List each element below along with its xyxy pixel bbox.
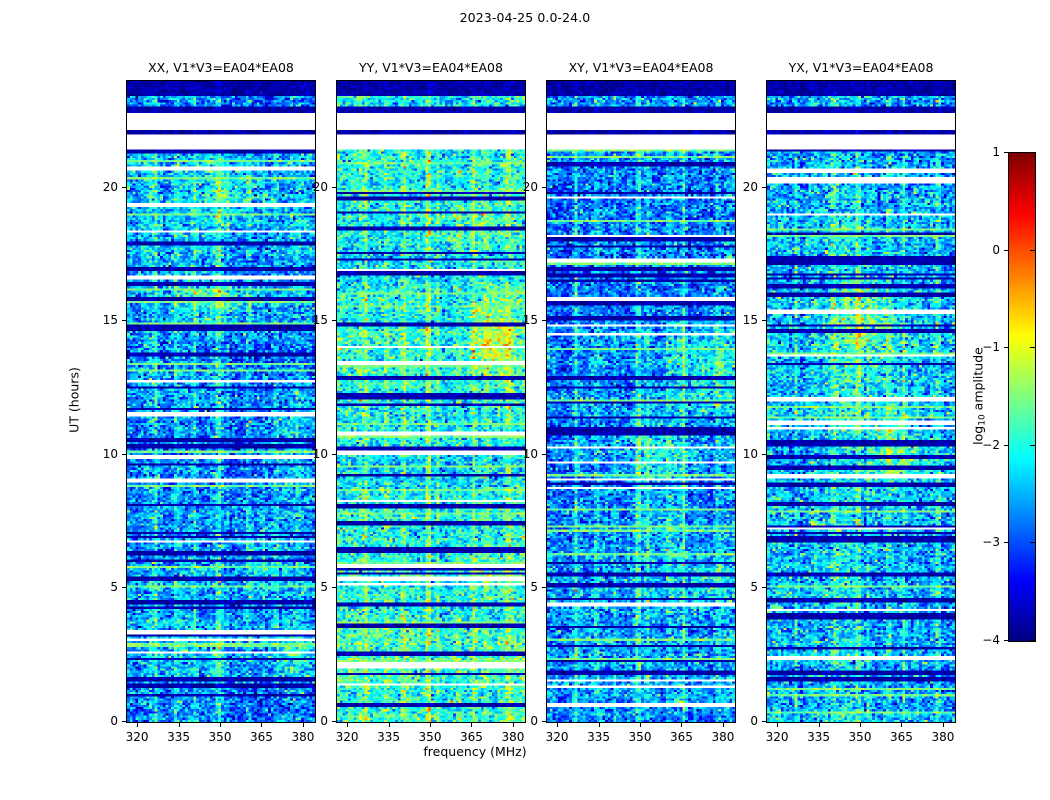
y-tick-label: 0 bbox=[506, 714, 538, 728]
x-tick-label: 320 bbox=[126, 730, 149, 744]
y-tick-label: 10 bbox=[86, 447, 118, 461]
y-tick-label: 15 bbox=[726, 313, 758, 327]
x-tick-label: 365 bbox=[890, 730, 913, 744]
x-tick-label: 380 bbox=[291, 730, 314, 744]
y-axis-label: UT (hours) bbox=[67, 367, 82, 433]
y-tick-label: 10 bbox=[726, 447, 758, 461]
y-tick-label: 10 bbox=[296, 447, 328, 461]
panel-title-yx: YX, V1*V3=EA04*EA08 bbox=[789, 60, 934, 75]
x-tick-label: 380 bbox=[501, 730, 524, 744]
y-tick-mark bbox=[332, 587, 336, 588]
y-tick-label: 20 bbox=[296, 180, 328, 194]
waterfall-image-xx bbox=[127, 81, 315, 722]
x-tick-label: 335 bbox=[587, 730, 610, 744]
colorbar-tick-mark-inner bbox=[1030, 542, 1035, 543]
panel-title-yy: YY, V1*V3=EA04*EA08 bbox=[359, 60, 503, 75]
x-tick-label: 335 bbox=[167, 730, 190, 744]
x-tick-mark bbox=[777, 723, 778, 727]
y-tick-mark bbox=[122, 187, 126, 188]
y-tick-mark bbox=[762, 721, 766, 722]
y-tick-label: 20 bbox=[726, 180, 758, 194]
waterfall-image-yy bbox=[337, 81, 525, 722]
y-tick-label: 20 bbox=[506, 180, 538, 194]
panel-title-xx: XX, V1*V3=EA04*EA08 bbox=[148, 60, 294, 75]
colorbar-gradient bbox=[1009, 153, 1035, 641]
y-tick-label: 5 bbox=[506, 580, 538, 594]
x-tick-mark bbox=[179, 723, 180, 727]
waterfall-panel-yy[interactable]: YY, V1*V3=EA04*EA08 bbox=[336, 80, 526, 723]
x-tick-label: 350 bbox=[419, 730, 442, 744]
x-tick-mark bbox=[557, 723, 558, 727]
x-tick-label: 335 bbox=[807, 730, 830, 744]
x-tick-mark bbox=[471, 723, 472, 727]
y-tick-mark bbox=[122, 721, 126, 722]
colorbar-tick-mark-inner bbox=[1030, 152, 1035, 153]
x-tick-mark bbox=[860, 723, 861, 727]
colorbar-tick-label: 0 bbox=[964, 243, 1000, 257]
colorbar-tick-mark bbox=[1004, 640, 1009, 641]
y-tick-mark bbox=[762, 454, 766, 455]
x-tick-mark bbox=[723, 723, 724, 727]
y-tick-label: 15 bbox=[296, 313, 328, 327]
y-tick-mark bbox=[122, 454, 126, 455]
y-tick-label: 0 bbox=[86, 714, 118, 728]
waterfall-panel-yx[interactable]: YX, V1*V3=EA04*EA08 bbox=[766, 80, 956, 723]
x-tick-mark bbox=[430, 723, 431, 727]
y-tick-mark bbox=[762, 587, 766, 588]
waterfall-panel-xx[interactable]: XX, V1*V3=EA04*EA08 bbox=[126, 80, 316, 723]
colorbar-tick-mark bbox=[1004, 152, 1009, 153]
colorbar-tick-label: 1 bbox=[964, 145, 1000, 159]
colorbar-tick-mark bbox=[1004, 542, 1009, 543]
waterfall-image-yx bbox=[767, 81, 955, 722]
x-tick-mark bbox=[943, 723, 944, 727]
y-tick-mark bbox=[762, 187, 766, 188]
y-tick-mark bbox=[332, 454, 336, 455]
x-tick-mark bbox=[901, 723, 902, 727]
y-tick-mark bbox=[332, 721, 336, 722]
y-tick-label: 10 bbox=[506, 447, 538, 461]
y-tick-label: 20 bbox=[86, 180, 118, 194]
y-tick-mark bbox=[542, 721, 546, 722]
panel-title-xy: XY, V1*V3=EA04*EA08 bbox=[569, 60, 714, 75]
y-tick-label: 0 bbox=[296, 714, 328, 728]
x-tick-label: 380 bbox=[711, 730, 734, 744]
x-tick-label: 350 bbox=[629, 730, 652, 744]
x-tick-label: 320 bbox=[766, 730, 789, 744]
x-tick-mark bbox=[819, 723, 820, 727]
colorbar-tick-mark bbox=[1004, 347, 1009, 348]
x-tick-mark bbox=[389, 723, 390, 727]
x-tick-label: 320 bbox=[336, 730, 359, 744]
y-tick-mark bbox=[762, 320, 766, 321]
y-tick-mark bbox=[122, 320, 126, 321]
x-tick-label: 365 bbox=[460, 730, 483, 744]
x-tick-label: 350 bbox=[209, 730, 232, 744]
y-tick-mark bbox=[542, 587, 546, 588]
y-tick-label: 15 bbox=[86, 313, 118, 327]
colorbar-tick-mark bbox=[1004, 445, 1009, 446]
x-tick-mark bbox=[137, 723, 138, 727]
figure-canvas: 2023-04-25 0.0-24.0 XX, V1*V3=EA04*EA080… bbox=[0, 0, 1050, 800]
y-tick-mark bbox=[542, 320, 546, 321]
y-tick-label: 5 bbox=[86, 580, 118, 594]
y-tick-mark bbox=[332, 187, 336, 188]
x-tick-label: 365 bbox=[670, 730, 693, 744]
waterfall-image-xy bbox=[547, 81, 735, 722]
x-tick-label: 350 bbox=[849, 730, 872, 744]
x-tick-mark bbox=[347, 723, 348, 727]
y-tick-mark bbox=[542, 187, 546, 188]
colorbar-tick-mark-inner bbox=[1030, 347, 1035, 348]
colorbar-tick-mark-inner bbox=[1030, 640, 1035, 641]
y-tick-mark bbox=[542, 454, 546, 455]
colorbar-tick-label: −3 bbox=[964, 535, 1000, 549]
x-tick-label: 335 bbox=[377, 730, 400, 744]
y-tick-label: 15 bbox=[506, 313, 538, 327]
waterfall-panel-xy[interactable]: XY, V1*V3=EA04*EA08 bbox=[546, 80, 736, 723]
colorbar-tick-label: −4 bbox=[964, 633, 1000, 647]
y-tick-label: 5 bbox=[726, 580, 758, 594]
y-tick-label: 0 bbox=[726, 714, 758, 728]
x-tick-mark bbox=[681, 723, 682, 727]
y-tick-mark bbox=[332, 320, 336, 321]
x-tick-mark bbox=[220, 723, 221, 727]
colorbar-tick-mark bbox=[1004, 250, 1009, 251]
y-tick-mark bbox=[122, 587, 126, 588]
x-tick-label: 380 bbox=[931, 730, 954, 744]
y-tick-label: 5 bbox=[296, 580, 328, 594]
x-tick-label: 365 bbox=[250, 730, 273, 744]
figure-suptitle: 2023-04-25 0.0-24.0 bbox=[0, 10, 1050, 25]
x-tick-mark bbox=[599, 723, 600, 727]
x-axis-label: frequency (MHz) bbox=[0, 744, 950, 759]
colorbar-label: log10 amplitude bbox=[971, 347, 986, 445]
colorbar[interactable] bbox=[1008, 152, 1036, 642]
x-tick-mark bbox=[261, 723, 262, 727]
colorbar-tick-mark-inner bbox=[1030, 250, 1035, 251]
x-tick-mark bbox=[640, 723, 641, 727]
x-tick-label: 320 bbox=[546, 730, 569, 744]
colorbar-tick-mark-inner bbox=[1030, 445, 1035, 446]
